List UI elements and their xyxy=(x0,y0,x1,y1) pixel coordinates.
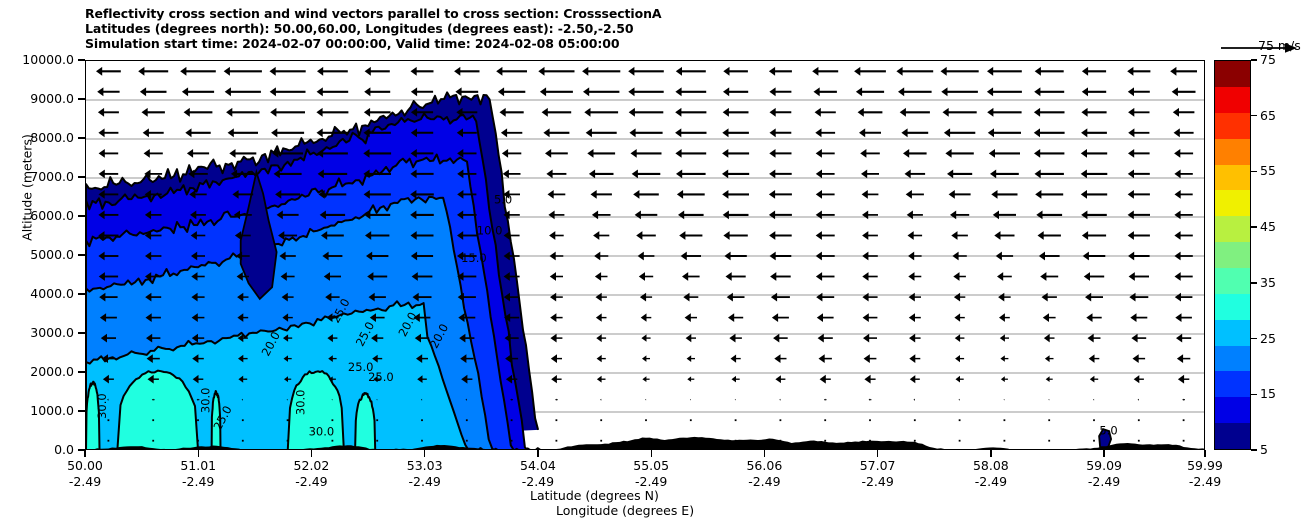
wind-vector-head xyxy=(774,354,780,363)
wind-vector-head xyxy=(636,231,642,240)
wind-vector xyxy=(1128,87,1150,96)
wind-vector xyxy=(864,354,877,363)
wind-vector xyxy=(953,272,966,281)
wind-vector-head xyxy=(908,231,914,240)
wind-vector xyxy=(542,108,572,117)
wind-vector-head xyxy=(1138,399,1139,401)
wind-vector-head xyxy=(735,399,736,401)
wind-vector xyxy=(1170,67,1197,76)
wind-vector xyxy=(1044,334,1055,343)
wind-vector-head xyxy=(952,252,958,261)
wind-vector-dot xyxy=(108,419,110,421)
wind-vector xyxy=(862,231,878,240)
wind-vector-head xyxy=(540,87,546,96)
wind-vector-head xyxy=(596,293,602,302)
wind-vector-head xyxy=(411,87,417,96)
wind-vector xyxy=(723,87,748,96)
x-tick-mark xyxy=(990,450,991,457)
wind-vector-head xyxy=(681,252,687,261)
wind-vector xyxy=(1081,128,1107,137)
wind-vector xyxy=(727,293,745,302)
wind-vector xyxy=(229,149,256,158)
wind-vector-head xyxy=(1034,87,1040,96)
wind-vector xyxy=(941,67,979,76)
wind-vector-head xyxy=(1172,87,1178,96)
wind-vector xyxy=(1174,211,1192,220)
x-tick-label-latitude: 58.08 xyxy=(946,458,1036,473)
wind-vector-head xyxy=(909,354,915,363)
wind-vector-dot xyxy=(242,419,244,421)
wind-vector-head xyxy=(1174,231,1180,240)
colorbar-band xyxy=(1215,216,1250,242)
wind-vector-head xyxy=(1173,108,1179,117)
wind-vector xyxy=(862,272,877,281)
wind-vector-head xyxy=(862,252,868,261)
colorbar-tick-mark xyxy=(1251,394,1257,395)
wind-vector xyxy=(1046,376,1053,382)
wind-vector-dot xyxy=(197,419,199,421)
wind-vector-head xyxy=(411,67,417,76)
wind-vector xyxy=(501,128,522,137)
wind-vector-head xyxy=(816,252,822,261)
colorbar-band xyxy=(1215,294,1250,320)
wind-vector-dot xyxy=(511,419,513,421)
wind-vector-head xyxy=(1133,354,1139,363)
wind-vector-dot xyxy=(600,419,602,421)
wind-vector xyxy=(1038,231,1061,240)
wind-vector-head xyxy=(770,108,776,117)
wind-vector xyxy=(816,170,835,179)
wind-vector-head xyxy=(908,272,914,281)
wind-vector xyxy=(1090,376,1098,383)
wind-vector-head xyxy=(182,87,188,96)
wind-vector xyxy=(950,211,969,220)
y-tick-mark xyxy=(78,98,85,99)
contour-label: 30.0 xyxy=(198,387,212,413)
wind-vector xyxy=(1081,170,1108,179)
colorbar-tick-mark xyxy=(1251,115,1257,116)
wind-vector xyxy=(270,87,306,96)
wind-vector xyxy=(770,272,791,281)
x-tick-label-latitude: 51.01 xyxy=(153,458,243,473)
wind-vector xyxy=(1045,355,1054,362)
contour-label: 5.0 xyxy=(1099,424,1117,438)
contour-label: 15.0 xyxy=(461,251,487,265)
wind-vector xyxy=(988,128,1021,137)
wind-vector-head xyxy=(1081,190,1087,199)
wind-vector xyxy=(550,293,563,302)
wind-vector-head xyxy=(98,108,104,117)
wind-vector xyxy=(954,313,964,321)
wind-vector-head xyxy=(773,334,779,343)
colorbar-tick-mark xyxy=(1251,226,1257,227)
wind-vector xyxy=(638,252,655,261)
wind-vector-head xyxy=(1000,334,1005,341)
wind-vector-head xyxy=(226,108,232,117)
chart-root: Reflectivity cross section and wind vect… xyxy=(0,0,1304,526)
wind-vector-head xyxy=(723,231,729,240)
wind-vector xyxy=(816,190,835,199)
wind-vector xyxy=(317,87,349,96)
wind-vector xyxy=(1174,149,1193,158)
wind-vector-head xyxy=(642,355,646,362)
wind-vector-head xyxy=(1175,313,1181,322)
wind-vector xyxy=(723,211,749,220)
wind-vector-head xyxy=(769,170,775,179)
wind-vector xyxy=(1174,252,1192,261)
wind-vector xyxy=(683,293,698,302)
wind-vector xyxy=(903,149,927,158)
wind-vector xyxy=(642,376,649,382)
wind-vector xyxy=(500,108,524,117)
wind-vector xyxy=(538,67,574,76)
x-tick-mark xyxy=(424,450,425,457)
wind-vector-head xyxy=(909,334,915,343)
y-tick-mark xyxy=(78,176,85,177)
wind-vector-head xyxy=(1004,399,1005,400)
wind-vector xyxy=(96,67,121,76)
wind-vector-dot xyxy=(1138,419,1140,421)
wind-vector xyxy=(769,170,792,179)
wind-vector-head xyxy=(732,376,737,383)
wind-vector-head xyxy=(682,272,688,281)
wind-vector-head xyxy=(1176,334,1182,343)
wind-vector-dot xyxy=(421,440,423,442)
wind-vector-head xyxy=(1081,211,1087,220)
wind-vector-head xyxy=(96,67,102,76)
wind-vector xyxy=(685,313,697,322)
wind-vector xyxy=(1128,211,1150,220)
wind-vector xyxy=(1174,128,1194,137)
wind-vector-head xyxy=(99,149,105,158)
wind-vector xyxy=(224,67,262,76)
wind-vector-head xyxy=(542,108,548,117)
wind-vector-head xyxy=(1085,293,1091,302)
wind-vector-dot xyxy=(824,419,826,421)
colorbar-tick-label: 5 xyxy=(1260,442,1268,457)
wind-vector xyxy=(862,190,879,199)
wind-vector-head xyxy=(317,67,323,76)
wind-vector xyxy=(545,149,568,158)
wind-vector-head xyxy=(770,272,776,281)
wind-vector-head xyxy=(583,87,589,96)
wind-vector xyxy=(997,272,1012,281)
wind-vector xyxy=(901,128,928,137)
wind-vector-head xyxy=(1128,190,1134,199)
wind-vector-head xyxy=(690,399,691,400)
wind-vector xyxy=(594,252,608,261)
wind-vector xyxy=(943,108,977,117)
y-tick-label: 2000.0 xyxy=(0,364,74,379)
wind-vector-head xyxy=(731,355,737,363)
wind-vector-head xyxy=(863,334,869,343)
wind-vector xyxy=(722,149,749,158)
wind-vector-head xyxy=(1089,354,1095,363)
wind-vector xyxy=(679,231,702,240)
wind-vector xyxy=(951,231,968,240)
wind-vector xyxy=(909,334,921,343)
wind-vector-head xyxy=(1038,231,1044,240)
wind-vector xyxy=(944,128,975,137)
wind-vector-head xyxy=(550,293,556,302)
wind-vector-dot xyxy=(242,440,244,442)
wind-vector-head xyxy=(228,128,234,137)
wind-vector xyxy=(365,67,390,76)
wind-vector-head xyxy=(729,334,735,343)
wind-vector xyxy=(816,149,835,158)
wind-vector xyxy=(681,252,701,261)
wind-vector xyxy=(999,313,1010,322)
wind-vector xyxy=(1085,293,1103,302)
wind-vector-head xyxy=(550,313,556,322)
x-tick-label-longitude: -2.49 xyxy=(946,474,1036,489)
wind-vector xyxy=(905,170,926,179)
wind-vector-dot xyxy=(1183,419,1185,421)
wind-vector-head xyxy=(1086,313,1092,322)
wind-vector-head xyxy=(1174,170,1180,179)
wind-vector xyxy=(774,354,786,363)
wind-vector-head xyxy=(987,108,993,117)
wind-vector xyxy=(592,211,611,220)
wind-vector xyxy=(1004,399,1005,400)
wind-vector xyxy=(907,211,923,220)
wind-vector-dot xyxy=(914,419,916,421)
wind-vector xyxy=(1034,128,1065,137)
wind-vector-head xyxy=(676,67,682,76)
wind-vector xyxy=(597,376,606,383)
wind-vector-head xyxy=(500,108,506,117)
wind-vector xyxy=(582,67,620,76)
wind-vector-dot xyxy=(600,440,602,442)
wind-vector-head xyxy=(816,211,822,220)
wind-vector-dot xyxy=(152,440,154,442)
wind-vector-dot xyxy=(287,419,289,421)
wind-vector-head xyxy=(816,149,822,158)
x-tick-mark xyxy=(311,450,312,457)
x-tick-mark xyxy=(1103,450,1104,457)
chart-title: Reflectivity cross section and wind vect… xyxy=(85,6,661,52)
colorbar-band xyxy=(1215,61,1250,87)
wind-vector xyxy=(728,313,743,322)
wind-vector-head xyxy=(990,170,996,179)
colorbar-tick-mark xyxy=(1251,59,1257,60)
wind-vector xyxy=(1175,293,1193,302)
wind-vector-head xyxy=(639,272,645,281)
wind-vector xyxy=(1175,190,1193,199)
y-tick-label: 4000.0 xyxy=(0,286,74,301)
wind-vector-head xyxy=(860,149,866,158)
wind-vector-head xyxy=(675,87,681,96)
x-tick-label-latitude: 59.09 xyxy=(1059,458,1149,473)
y-tick-label: 8000.0 xyxy=(0,130,74,145)
wind-vector-head xyxy=(812,67,818,76)
wind-vector-head xyxy=(1174,211,1180,220)
wind-vector xyxy=(731,355,741,363)
wind-vector-head xyxy=(550,252,556,261)
wind-vector-head xyxy=(1093,399,1094,401)
wind-vector xyxy=(991,190,1017,199)
wind-vector-head xyxy=(1128,170,1134,179)
colorbar-band xyxy=(1215,165,1250,191)
wind-vector xyxy=(543,128,569,137)
wind-vector xyxy=(628,87,663,96)
colorbar-tick-label: 35 xyxy=(1260,275,1276,290)
x-tick-label-latitude: 59.99 xyxy=(1160,458,1250,473)
wind-vector-head xyxy=(595,272,601,281)
y-tick-mark xyxy=(78,410,85,411)
x-tick-mark xyxy=(84,450,85,457)
wind-vector-head xyxy=(862,190,868,199)
colorbar-tick-label: 65 xyxy=(1260,108,1276,123)
wind-vector xyxy=(600,399,601,401)
wind-vector-dot xyxy=(869,419,871,421)
wind-vector xyxy=(589,170,614,179)
wind-vector-head xyxy=(1128,87,1134,96)
colorbar-band xyxy=(1215,268,1250,294)
wind-vector-head xyxy=(724,252,730,261)
wind-vector-dot xyxy=(735,440,737,442)
x-tick-label-longitude: -2.49 xyxy=(606,474,696,489)
wind-vector-dot xyxy=(376,440,378,442)
wind-vector-dot xyxy=(332,419,334,421)
wind-vector-head xyxy=(317,128,323,137)
wind-vector-head xyxy=(864,375,870,384)
wind-vector xyxy=(726,272,746,281)
wind-vector-head xyxy=(858,108,864,117)
wind-vector xyxy=(1128,190,1150,199)
wind-vector xyxy=(180,67,216,76)
wind-vector xyxy=(1034,87,1064,96)
wind-vector-head xyxy=(900,108,906,117)
wind-vector-head xyxy=(819,354,825,363)
wind-vector xyxy=(1034,149,1064,158)
wind-vector xyxy=(226,108,259,117)
wind-vector xyxy=(819,354,832,363)
wind-vector-head xyxy=(143,128,149,137)
wind-vector-head xyxy=(538,67,544,76)
wind-vector xyxy=(687,376,694,382)
wind-vector-head xyxy=(364,87,370,96)
wind-vector-head xyxy=(629,108,635,117)
wind-vector-head xyxy=(365,67,371,76)
wind-vector-head xyxy=(594,252,600,261)
wind-vector xyxy=(550,313,562,322)
wind-vector-head xyxy=(723,67,729,76)
wind-vector-head xyxy=(945,149,951,158)
wind-vector xyxy=(947,170,972,179)
colorbar-tick-mark xyxy=(1251,449,1257,450)
wind-vector-head xyxy=(184,108,190,117)
wind-vector xyxy=(629,108,664,117)
y-axis-label: Altitude (meters) xyxy=(20,88,35,288)
wind-vector xyxy=(863,334,877,343)
wind-vector-head xyxy=(584,108,590,117)
y-tick-label: 9000.0 xyxy=(0,91,74,106)
wind-vector xyxy=(769,87,791,96)
wind-vector-head xyxy=(1000,355,1004,361)
wind-vector xyxy=(1129,272,1149,281)
wind-vector-head xyxy=(686,334,692,342)
wind-vector xyxy=(675,108,706,117)
wind-vector-head xyxy=(549,231,555,240)
wind-vector-head xyxy=(640,293,646,302)
wind-vector xyxy=(998,293,1011,302)
wind-vector xyxy=(779,399,780,401)
wind-vector-head xyxy=(943,108,949,117)
wind-vector-head xyxy=(1128,211,1134,220)
wind-vector xyxy=(816,211,835,220)
wind-vector-head xyxy=(727,293,733,302)
wind-vector xyxy=(596,334,606,342)
wind-vector-head xyxy=(550,272,556,281)
wind-vector-head xyxy=(98,128,104,137)
wind-vector-head xyxy=(944,128,950,137)
wind-vector xyxy=(632,170,661,179)
wind-vector-head xyxy=(632,170,638,179)
wind-vector-dot xyxy=(959,419,961,421)
reflectivity-band-30dbz xyxy=(355,393,375,450)
wind-vector xyxy=(862,211,878,220)
wind-vector xyxy=(906,190,924,199)
wind-vector-head xyxy=(1090,376,1095,383)
wind-vector-head xyxy=(775,375,781,383)
wind-vector-head xyxy=(501,128,507,137)
wind-vector xyxy=(686,334,696,342)
wind-vector xyxy=(861,170,879,179)
wind-vector xyxy=(723,108,749,117)
colorbar-band xyxy=(1215,139,1250,165)
wind-vector xyxy=(628,67,664,76)
wind-vector xyxy=(1128,128,1149,137)
wind-vector-dot xyxy=(1048,440,1050,442)
wind-vector-head xyxy=(769,149,775,158)
wind-vector xyxy=(856,87,884,96)
wind-vector-head xyxy=(546,170,552,179)
wind-vector xyxy=(1035,170,1064,179)
wind-vector-head xyxy=(1082,87,1088,96)
wind-vector xyxy=(138,67,168,76)
wind-vector xyxy=(677,190,705,199)
wind-vector-head xyxy=(1174,252,1180,261)
wind-vector-head xyxy=(1134,375,1140,383)
wind-vector-head xyxy=(1034,108,1040,117)
wind-vector xyxy=(914,399,915,401)
wind-vector xyxy=(816,231,835,240)
wind-vector xyxy=(1172,87,1196,96)
wind-vector xyxy=(595,272,608,281)
wind-vector-head xyxy=(996,252,1002,261)
wind-vector-head xyxy=(1128,231,1134,240)
wind-vector xyxy=(987,108,1021,117)
wind-vector-dot xyxy=(556,440,558,442)
wind-vector xyxy=(987,67,1022,76)
wind-vector-head xyxy=(454,67,460,76)
x-axis-label-longitude: Longitude (degrees E) xyxy=(556,503,694,518)
wind-vector xyxy=(771,293,790,302)
wind-vector-head xyxy=(600,399,601,401)
wind-vector-head xyxy=(816,293,822,302)
wind-vector xyxy=(641,334,650,341)
wind-vector-head xyxy=(816,231,822,240)
wind-vector-head xyxy=(722,149,728,158)
x-tick-mark xyxy=(537,450,538,457)
wind-vector-head xyxy=(551,354,557,363)
wind-vector-head xyxy=(947,170,953,179)
wind-vector-head xyxy=(270,108,276,117)
wind-vector xyxy=(1173,108,1195,117)
colorbar-band xyxy=(1215,423,1250,449)
wind-vector-head xyxy=(1048,399,1049,400)
